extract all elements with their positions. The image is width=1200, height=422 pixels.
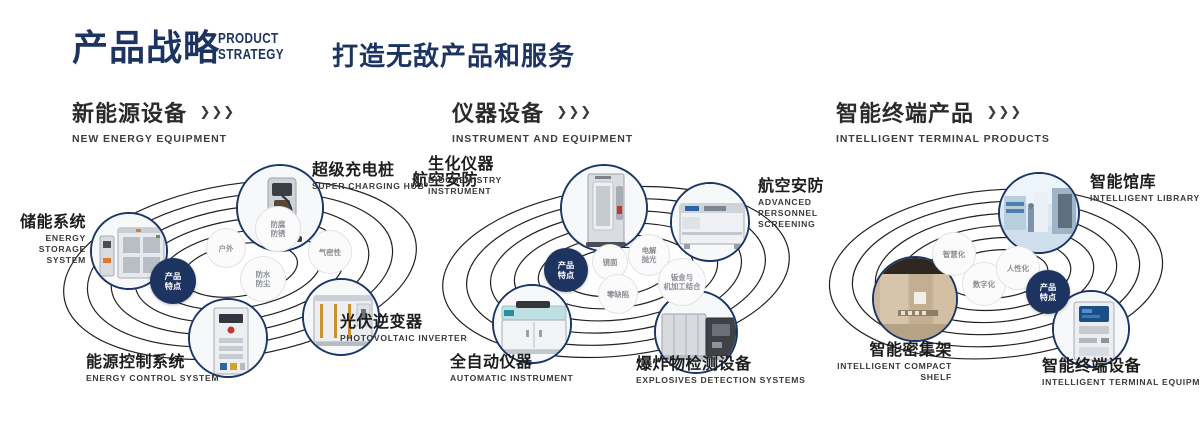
section-heading-new-energy: 新能源设备 ❯❯❯ NEW ENERGY EQUIPMENT <box>72 96 235 145</box>
feature-bubble-outdoor: 户外 <box>206 228 246 268</box>
feature-core-instrument-text: 产品 特点 <box>558 260 574 280</box>
feature-bubble-zero-defect: 零缺陷 <box>598 274 638 314</box>
node-advanced-personnel-screening[interactable] <box>670 182 750 262</box>
feature-bubble-airtight-text: 气密性 <box>319 248 341 257</box>
label-intelligent-compact-shelf: 智能密集架 INTELLIGENT COMPACT SHELF <box>824 340 952 383</box>
feature-bubble-outdoor-text: 户外 <box>219 244 234 253</box>
label-energy-control-system-cn: 能源控制系统 <box>86 352 219 371</box>
label-energy-control-system: 能源控制系统 ENERGY CONTROL SYSTEM <box>86 352 219 384</box>
chevrons-right-icon: ❯❯❯ <box>199 104 235 120</box>
chevrons-right-icon: ❯❯❯ <box>986 104 1022 120</box>
label-intelligent-terminal-equipment: 智能终端设备 INTELLIGENT TERMINAL EQUIPMENT <box>1042 356 1200 388</box>
feature-bubble-mirror-text: 镜面 <box>603 258 618 267</box>
biochemistry-analyzer-icon <box>562 166 646 250</box>
section-heading-intelligent-terminal-cn: 智能终端产品 <box>836 96 974 128</box>
feature-bubble-smart-text: 智慧化 <box>943 250 965 259</box>
feature-bubble-sheetmetal-machining: 钣金与 机加工结合 <box>658 258 706 306</box>
feature-core-new-energy-text: 产品 特点 <box>165 271 181 291</box>
label-intelligent-library: 智能馆库 INTELLIGENT LIBRARY <box>1090 172 1200 204</box>
feature-bubble-sheetmetal-machining-text: 钣金与 机加工结合 <box>664 273 701 291</box>
feature-bubble-humanized-text: 人性化 <box>1007 264 1029 273</box>
label-intelligent-terminal-equipment-en: INTELLIGENT TERMINAL EQUIPMENT <box>1042 377 1200 388</box>
automatic-instrument-icon <box>494 286 570 362</box>
library-room-icon <box>1000 174 1078 252</box>
section-heading-instrument-cn: 仪器设备 <box>452 96 544 128</box>
label-intelligent-library-cn: 智能馆库 <box>1090 172 1200 191</box>
label-biochemistry-instrument-cn: 生化仪器 <box>428 154 514 173</box>
page-title-english-line2: STRATEGY <box>218 47 284 63</box>
label-biochemistry-instrument-en: BIOCHEMISTRY INSTRUMENT <box>428 175 514 197</box>
label-energy-control-system-en: ENERGY CONTROL SYSTEM <box>86 373 219 384</box>
feature-core-intelligent-terminal: 产品 特点 <box>1026 270 1070 314</box>
feature-core-new-energy: 产品 特点 <box>150 258 196 304</box>
section-heading-instrument-en: INSTRUMENT AND EQUIPMENT <box>452 133 633 145</box>
label-intelligent-compact-shelf-en: INTELLIGENT COMPACT SHELF <box>824 361 952 383</box>
page-header: 产品战略 PRODUCT STRATEGY 打造无敌产品和服务 <box>0 0 1200 88</box>
page-title-english: PRODUCT STRATEGY <box>218 31 284 63</box>
feature-bubble-anticorrosion-text: 防腐 防锈 <box>271 220 286 238</box>
chevrons-right-icon: ❯❯❯ <box>556 104 592 120</box>
section-heading-intelligent-terminal-en: INTELLIGENT TERMINAL PRODUCTS <box>836 133 1050 145</box>
section-heading-instrument: 仪器设备 ❯❯❯ INSTRUMENT AND EQUIPMENT <box>452 96 633 145</box>
feature-core-instrument: 产品 特点 <box>544 248 588 292</box>
label-explosives-detection-systems-cn: 爆炸物检测设备 <box>636 354 806 373</box>
label-automatic-instrument-en: AUTOMATIC INSTRUMENT <box>450 373 573 384</box>
page-title: 产品战略 <box>72 28 220 70</box>
cluster-intelligent-terminal-products: 智能馆库 INTELLIGENT LIBRARY <box>810 150 1200 410</box>
page-title-english-line1: PRODUCT <box>218 31 284 47</box>
label-explosives-detection-systems: 爆炸物检测设备 EXPLOSIVES DETECTION SYSTEMS <box>636 354 806 386</box>
feature-bubble-waterproof: 防水 防尘 <box>240 256 286 302</box>
feature-bubble-zero-defect-text: 零缺陷 <box>607 290 629 299</box>
section-heading-intelligent-terminal: 智能终端产品 ❯❯❯ INTELLIGENT TERMINAL PRODUCTS <box>836 96 1050 145</box>
feature-core-intelligent-terminal-text: 产品 特点 <box>1040 282 1056 302</box>
section-heading-new-energy-cn: 新能源设备 <box>72 96 187 128</box>
feature-bubble-electropolish-text: 电解 抛光 <box>642 246 657 264</box>
section-heading-new-energy-en: NEW ENERGY EQUIPMENT <box>72 133 235 145</box>
cluster-instrument-and-equipment: 航空安防 生化仪器 BIOCHEMISTRY INSTRUMENT <box>420 150 820 410</box>
feature-bubble-digital-text: 数字化 <box>973 280 995 289</box>
feature-bubble-airtight: 气密性 <box>308 230 352 274</box>
label-intelligent-terminal-equipment-cn: 智能终端设备 <box>1042 356 1200 375</box>
product-strategy-infographic: 产品战略 PRODUCT STRATEGY 打造无敌产品和服务 新能源设备 ❯❯… <box>0 0 1200 422</box>
label-intelligent-library-en: INTELLIGENT LIBRARY <box>1090 193 1200 204</box>
label-explosives-detection-systems-en: EXPLOSIVES DETECTION SYSTEMS <box>636 375 806 386</box>
label-automatic-instrument: 全自动仪器 AUTOMATIC INSTRUMENT <box>450 352 573 384</box>
feature-bubble-anticorrosion: 防腐 防锈 <box>255 206 301 252</box>
label-intelligent-compact-shelf-cn: 智能密集架 <box>824 340 952 359</box>
label-energy-storage-system-en: ENERGY STORAGE SYSTEM <box>0 233 86 266</box>
screening-machine-icon <box>672 184 748 260</box>
node-intelligent-library[interactable] <box>998 172 1080 254</box>
label-automatic-instrument-cn: 全自动仪器 <box>450 352 573 371</box>
label-energy-storage-system: 储能系统 ENERGY STORAGE SYSTEM <box>0 212 86 266</box>
cluster-new-energy-equipment: 超级充电桩 SUPER CHARGING HUB <box>40 150 440 410</box>
label-biochemistry-instrument: 生化仪器 BIOCHEMISTRY INSTRUMENT <box>428 154 514 197</box>
feature-bubble-waterproof-text: 防水 防尘 <box>256 270 271 288</box>
page-subtitle: 打造无敌产品和服务 <box>332 36 575 73</box>
label-energy-storage-system-cn: 储能系统 <box>0 212 86 231</box>
